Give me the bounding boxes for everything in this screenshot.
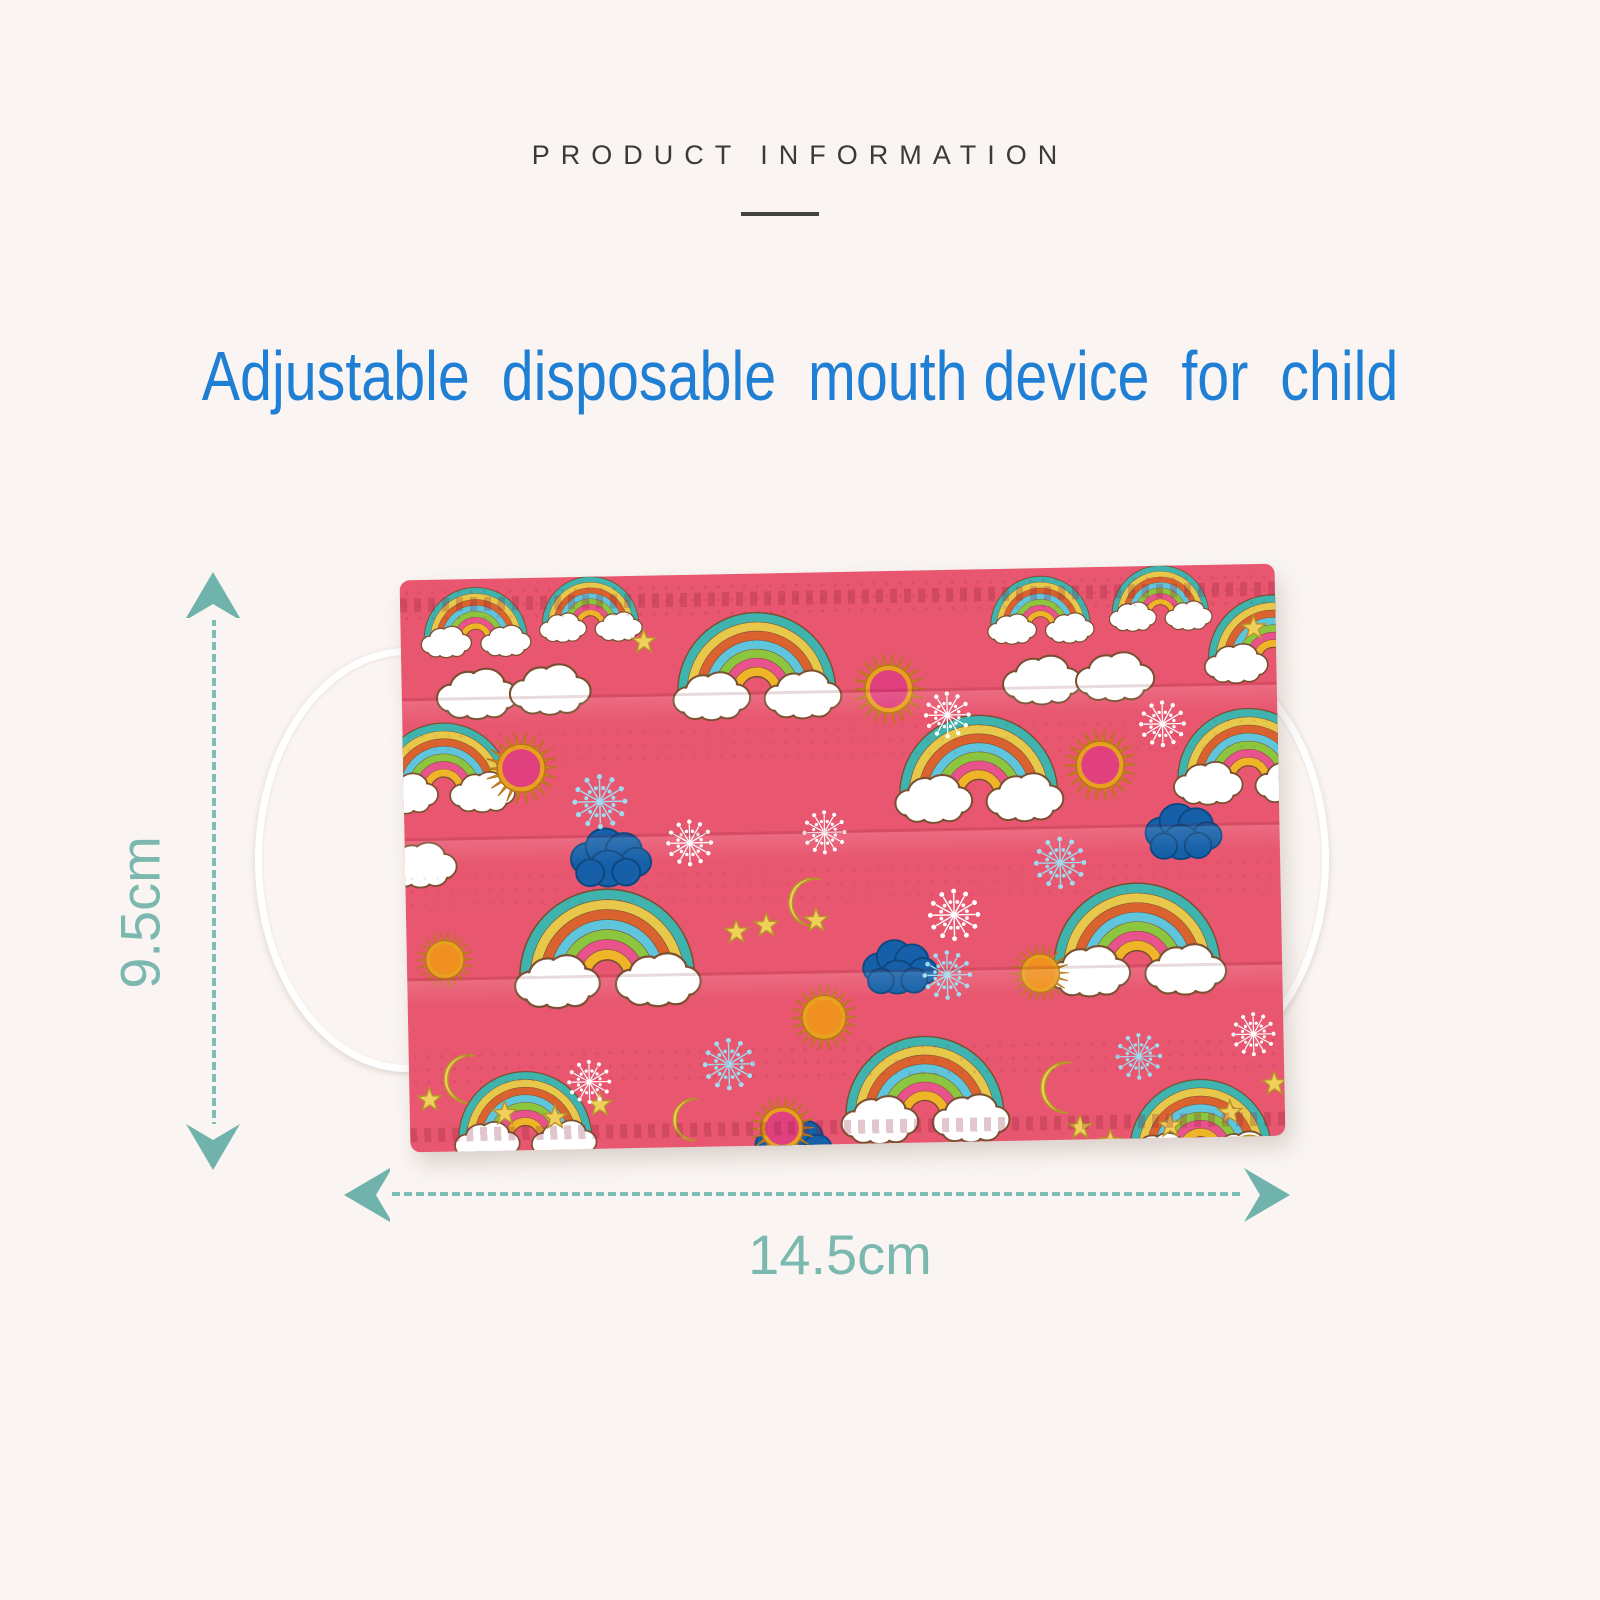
mask-pattern	[400, 564, 1286, 1153]
width-arrow-right-notch	[1244, 1168, 1260, 1222]
width-dimension-label: 14.5cm	[0, 1222, 1600, 1287]
mask-body	[400, 564, 1286, 1153]
height-dimension-label: 9.5cm	[108, 763, 173, 1063]
width-arrow-left-notch	[376, 1168, 392, 1222]
width-dimension-text: 14.5cm	[748, 1223, 932, 1286]
height-arrow-down-notch	[186, 1124, 240, 1140]
eyebrow-divider	[741, 212, 819, 216]
page-headline: Adjustable disposable mouth device for c…	[144, 336, 1456, 416]
width-dimension-line	[380, 1192, 1240, 1196]
product-image	[255, 560, 1315, 1170]
height-arrow-up-notch	[186, 604, 240, 620]
product-information-page: PRODUCT INFORMATION Adjustable disposabl…	[0, 0, 1600, 1600]
section-eyebrow: PRODUCT INFORMATION	[0, 140, 1600, 171]
height-dimension-line	[212, 606, 216, 1166]
